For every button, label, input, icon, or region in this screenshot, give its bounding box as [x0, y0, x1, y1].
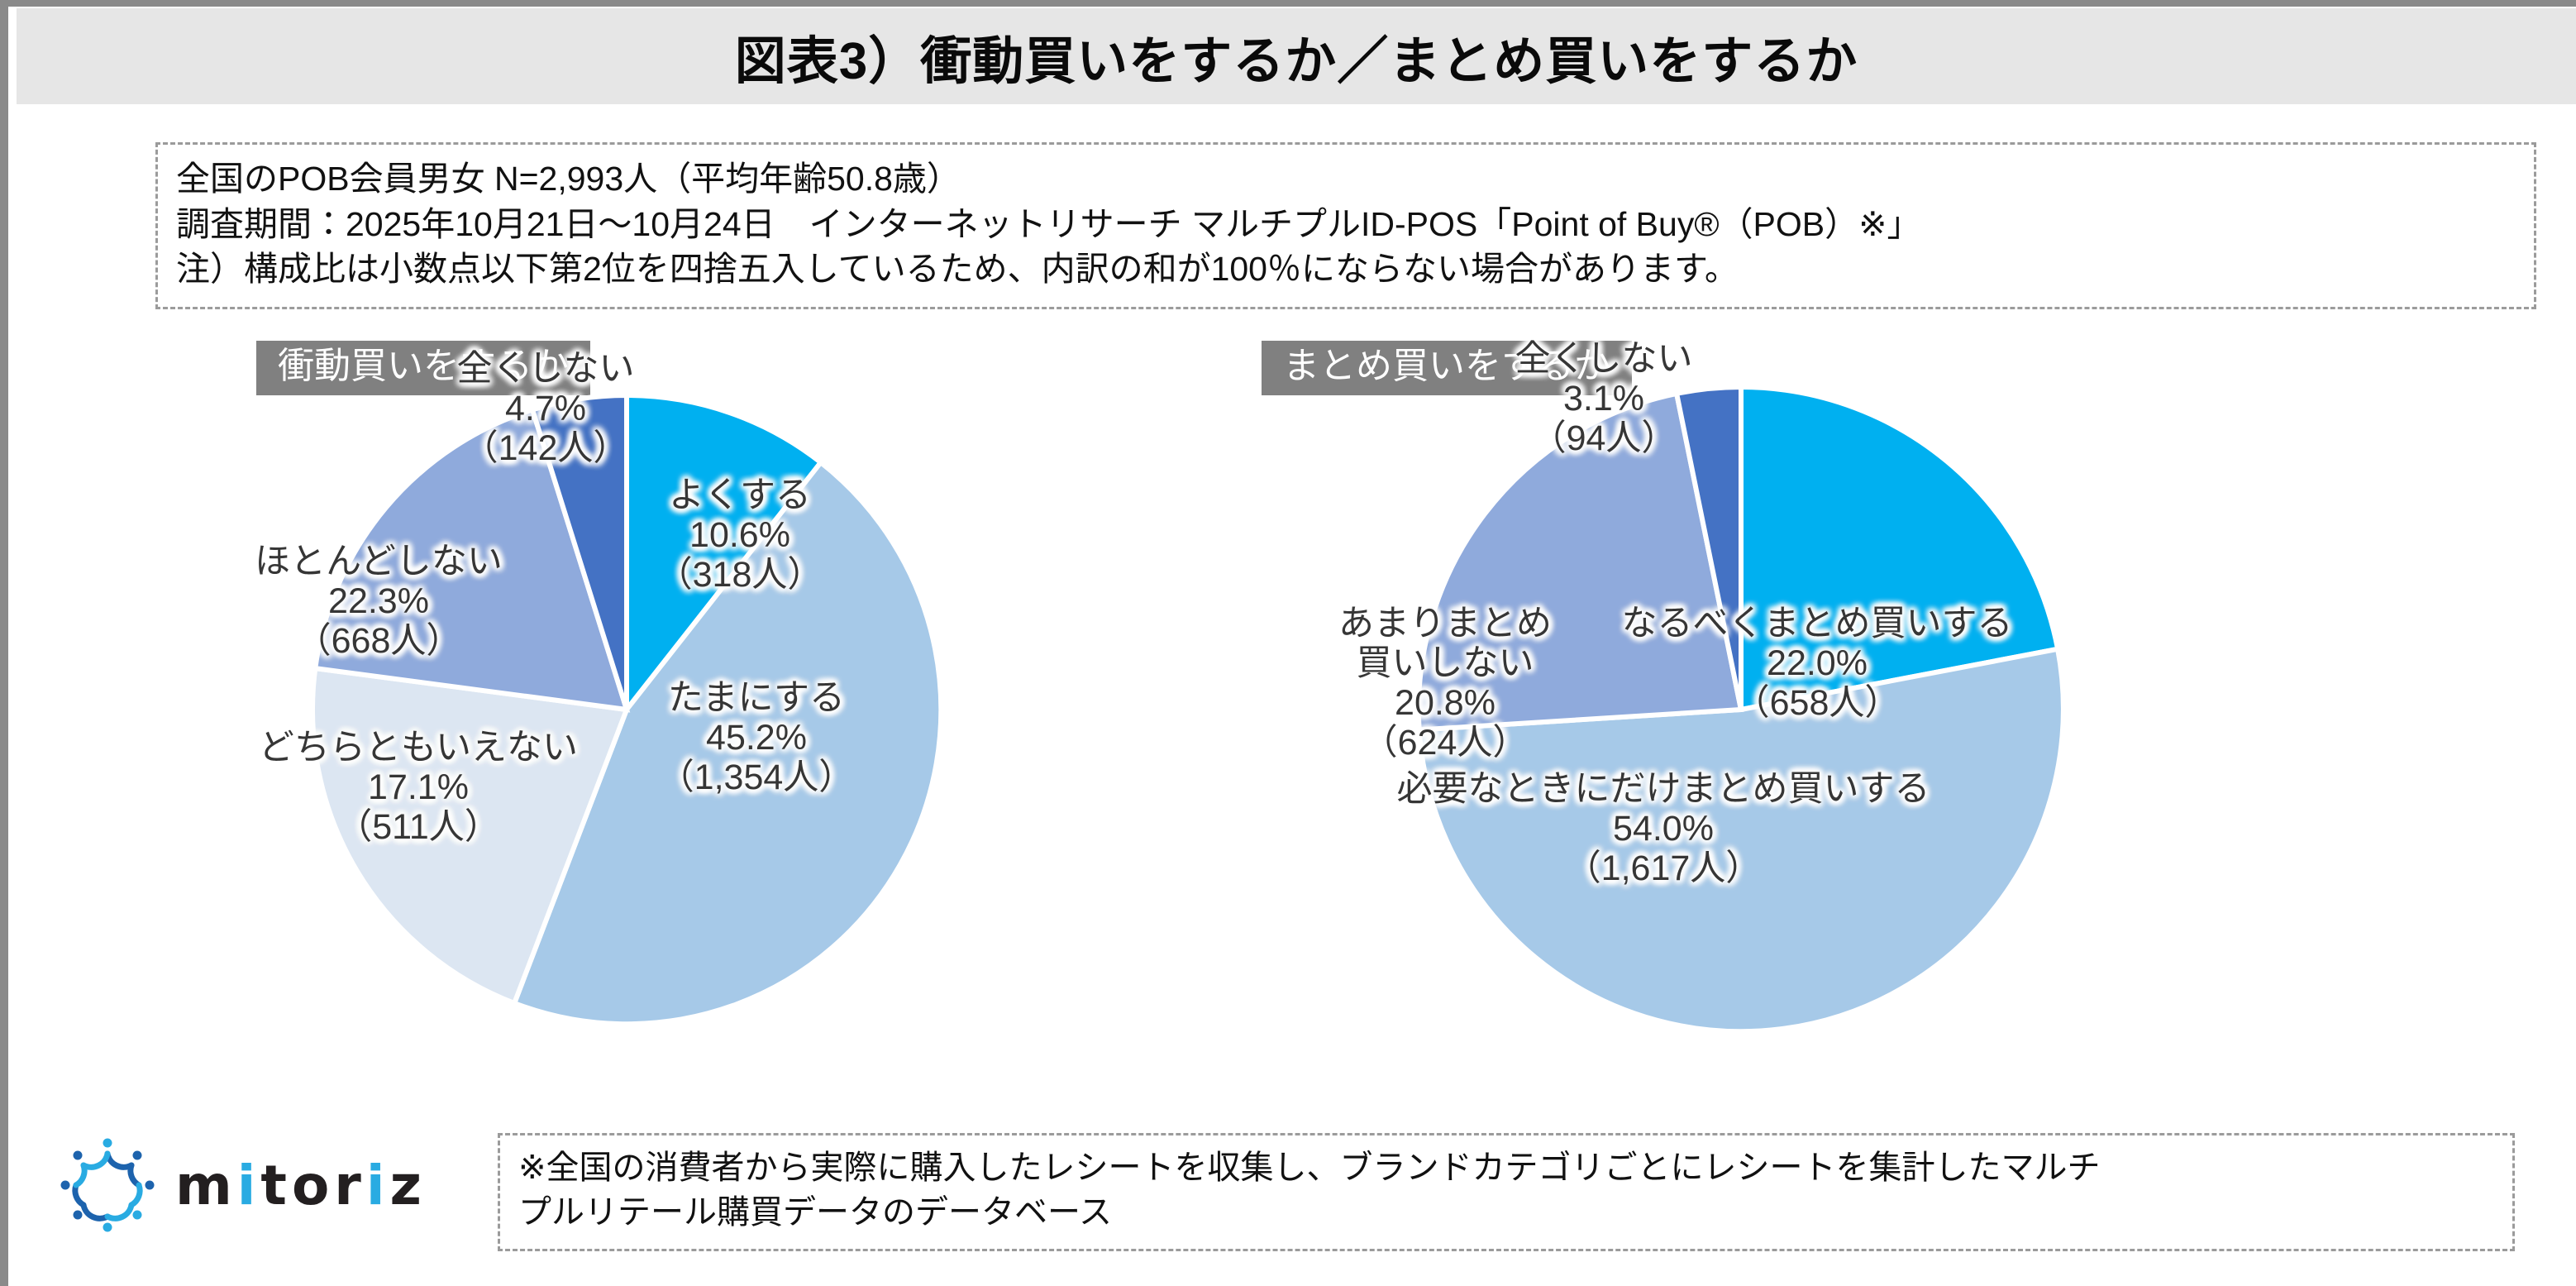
label-percent: 22.0% — [1586, 643, 2049, 683]
logo-letter-i-2: i — [366, 1154, 390, 1217]
pie-label-impulse-hotondoshinai: ほとんどしない 22.3% （668人） — [230, 542, 527, 661]
header-band: 図表3）衝動買いをするか／まとめ買いをするか — [17, 8, 2576, 104]
survey-info-box: 全国のPOB会員男女 N=2,993人（平均年齢50.8歳） 調査期間：2025… — [155, 142, 2536, 309]
mitoriz-logo: mitoriz — [58, 1131, 471, 1239]
label-count: （668人） — [230, 621, 527, 661]
label-name-line-2: 買いしない — [1296, 643, 1594, 683]
label-name: なるべくまとめ買いする — [1586, 604, 2049, 643]
label-percent: 4.7% — [422, 389, 670, 428]
logo-letter-z: z — [389, 1154, 426, 1217]
label-percent: 45.2% — [616, 718, 897, 758]
pie-label-impulse-mattakushinai: 全くしない 4.7% （142人） — [422, 349, 670, 468]
label-name: ほとんどしない — [230, 542, 527, 581]
logo-letters-tor: tor — [260, 1154, 365, 1217]
label-name-line-1: あまりまとめ — [1296, 604, 1594, 643]
mitoriz-star-icon — [58, 1135, 157, 1235]
charts-region: 衝動買いをするか — [8, 331, 2576, 1100]
label-count: （142人） — [422, 428, 670, 468]
pie-label-impulse-yokusuru: よくする 10.6% （318人） — [637, 476, 843, 595]
pie-label-impulse-dochiratomo: どちらともいえない 17.1% （511人） — [245, 728, 592, 847]
label-percent: 54.0% — [1357, 809, 1969, 849]
survey-info-line-2: 調査期間：2025年10月21日〜10月24日 インターネットリサーチ マルチプ… — [176, 202, 2516, 247]
label-count: （658人） — [1586, 683, 2049, 723]
footnote-line-2: プルリテール購買データのデータベース — [518, 1190, 2494, 1235]
mitoriz-wordmark: mitoriz — [175, 1154, 427, 1217]
logo-letter-m: m — [175, 1154, 237, 1217]
label-count: （318人） — [637, 555, 843, 595]
label-percent: 10.6% — [637, 515, 843, 555]
footnote-line-1: ※全国の消費者から実際に購入したレシートを収集し、ブランドカテゴリごとにレシート… — [518, 1145, 2494, 1190]
footer-region: mitoriz ※全国の消費者から実際に購入したレシートを収集し、ブランドカテゴ… — [8, 1125, 2576, 1286]
label-percent: 20.8% — [1296, 683, 1594, 723]
label-count: （1,354人） — [616, 758, 897, 797]
label-percent: 22.3% — [230, 581, 527, 621]
label-count: （511人） — [245, 807, 592, 847]
pie-label-bulk-amari: あまりまとめ 買いしない 20.8% （624人） — [1296, 604, 1594, 763]
label-name: 全くしない — [422, 349, 670, 389]
label-count: （94人） — [1472, 418, 1736, 458]
label-percent: 17.1% — [245, 767, 592, 807]
top-rule — [8, 0, 2576, 7]
label-percent: 3.1% — [1472, 379, 1736, 418]
label-name: 必要なときにだけまとめ買いする — [1357, 769, 1969, 809]
pie-label-bulk-hitsuyou: 必要なときにだけまとめ買いする 54.0% （1,617人） — [1357, 769, 1969, 888]
label-name: どちらともいえない — [245, 728, 592, 767]
logo-letter-i-1: i — [237, 1154, 261, 1217]
pie-label-bulk-mattakushinai: 全くしない 3.1% （94人） — [1472, 339, 1736, 458]
slide-canvas: 図表3）衝動買いをするか／まとめ買いをするか 全国のPOB会員男女 N=2,99… — [0, 0, 2576, 1286]
pie-wrap-bulk-buying: なるべくまとめ買いする 22.0% （658人） 必要なときにだけまとめ買いする… — [1224, 331, 2422, 1100]
pie-label-bulk-narubeku: なるべくまとめ買いする 22.0% （658人） — [1586, 604, 2049, 723]
survey-info-line-3: 注）構成比は小数点以下第2位を四捨五入しているため、内訳の和が100％にならない… — [176, 246, 2516, 292]
pie-wrap-impulse-buying: よくする 10.6% （318人） たまにする 45.2% （1,354人） ど… — [174, 331, 1248, 1100]
label-count: （1,617人） — [1357, 849, 1969, 888]
label-count: （624人） — [1296, 723, 1594, 763]
pie-label-impulse-tamanisuru: たまにする 45.2% （1,354人） — [616, 678, 897, 797]
survey-info-line-1: 全国のPOB会員男女 N=2,993人（平均年齢50.8歳） — [176, 156, 2516, 202]
label-name: 全くしない — [1472, 339, 1736, 379]
label-name: たまにする — [616, 678, 897, 718]
label-name: よくする — [637, 476, 843, 515]
page-title: 図表3）衝動買いをするか／まとめ買いをするか — [735, 19, 1858, 93]
footnote-box: ※全国の消費者から実際に購入したレシートを収集し、ブランドカテゴリごとにレシート… — [498, 1133, 2515, 1251]
